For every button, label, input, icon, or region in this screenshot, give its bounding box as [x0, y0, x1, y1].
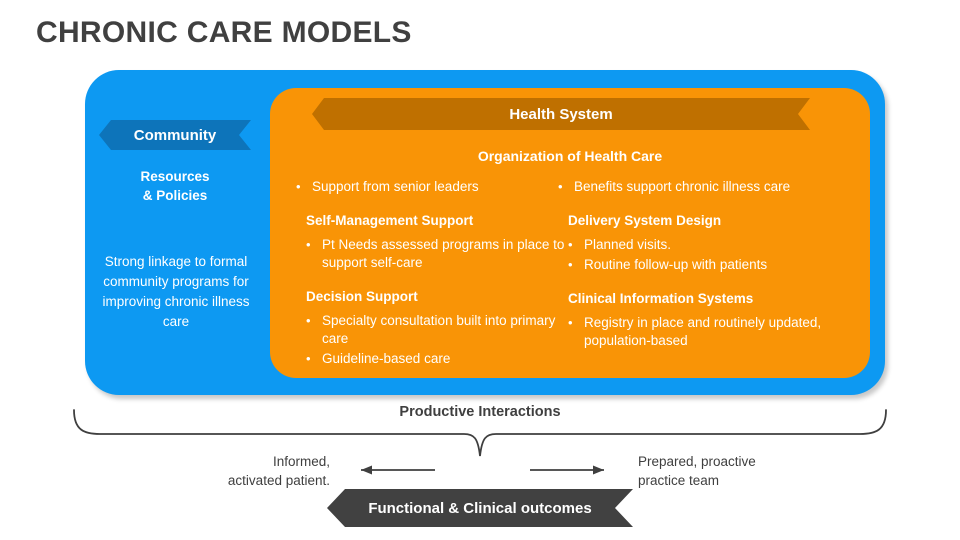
bullet-list: Pt Needs assessed programs in place to s…: [288, 236, 566, 272]
group-title: Self-Management Support: [306, 213, 566, 228]
health-system-banner: Health System: [312, 98, 810, 130]
bullet-item: Specialty consultation built into primar…: [288, 312, 566, 348]
bullet-item: Registry in place and routinely updated,…: [550, 314, 828, 350]
double-arrow-icon: [345, 460, 620, 480]
practice-team-label: Prepared, proactivepractice team: [638, 452, 818, 490]
health-system-group: Decision SupportSpecialty consultation b…: [288, 289, 566, 368]
health-system-panel: Health System Organization of Health Car…: [270, 88, 870, 378]
arrow-head-left: [361, 466, 372, 475]
health-system-group: Clinical Information SystemsRegistry in …: [550, 291, 828, 350]
interaction-arrows: [345, 460, 620, 480]
health-system-group: Self-Management SupportPt Needs assessed…: [288, 213, 566, 272]
bullet-item: Benefits support chronic illness care: [550, 178, 828, 196]
community-banner: Community: [99, 120, 251, 150]
bullet-list: Support from senior leaders: [288, 178, 566, 196]
informed-patient-label: Informed,activated patient.: [170, 452, 330, 490]
health-system-group: Support from senior leaders: [288, 178, 566, 196]
bullet-list: Benefits support chronic illness care: [550, 178, 828, 196]
bullet-list: Registry in place and routinely updated,…: [550, 314, 828, 350]
organization-of-health-care-heading: Organization of Health Care: [270, 148, 870, 164]
bullet-item: Pt Needs assessed programs in place to s…: [288, 236, 566, 272]
health-system-group: Benefits support chronic illness care: [550, 178, 828, 196]
community-panel: Community Resources& Policies Strong lin…: [85, 70, 885, 395]
group-title: Delivery System Design: [568, 213, 828, 228]
bullet-list: Planned visits.Routine follow-up with pa…: [550, 236, 828, 274]
outcomes-label: Functional & Clinical outcomes: [368, 500, 591, 517]
functional-clinical-outcomes-banner: Functional & Clinical outcomes: [327, 489, 633, 527]
group-title: Clinical Information Systems: [568, 291, 828, 306]
productive-interactions-label: Productive Interactions: [0, 404, 960, 420]
health-system-right-column: Benefits support chronic illness careDel…: [550, 178, 828, 352]
health-system-group: Delivery System DesignPlanned visits.Rou…: [550, 213, 828, 274]
bullet-item: Planned visits.: [550, 236, 828, 254]
health-system-banner-label: Health System: [509, 106, 612, 123]
community-subtitle: Resources& Policies: [99, 167, 251, 205]
bullet-item: Guideline-based care: [288, 350, 566, 368]
arrow-head-right: [593, 466, 604, 475]
bullet-list: Specialty consultation built into primar…: [288, 312, 566, 368]
group-title: Decision Support: [306, 289, 566, 304]
page-title: CHRONIC CARE MODELS: [36, 16, 412, 50]
bullet-item: Routine follow-up with patients: [550, 256, 828, 274]
community-body-text: Strong linkage to formal community progr…: [91, 252, 261, 332]
community-banner-label: Community: [134, 127, 217, 144]
bullet-item: Support from senior leaders: [288, 178, 566, 196]
health-system-left-column: Support from senior leadersSelf-Manageme…: [288, 178, 566, 370]
